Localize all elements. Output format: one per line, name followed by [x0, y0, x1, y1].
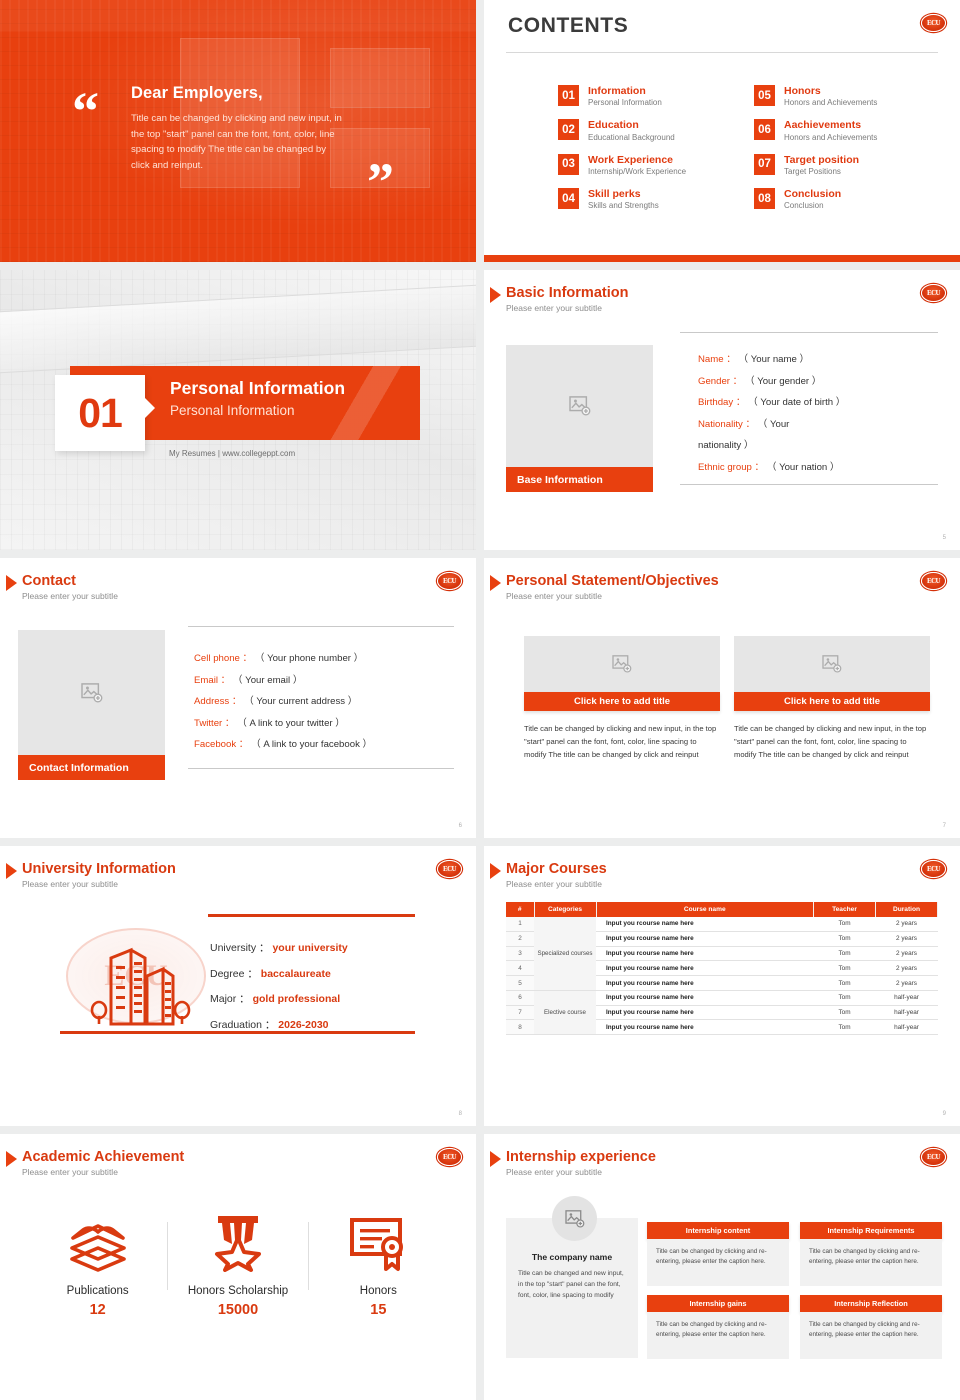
- page-subtitle: Please enter your subtitle: [506, 879, 602, 889]
- courses-table: # Categories Course name Teacher Duratio…: [506, 902, 938, 1035]
- internship-cell-gains[interactable]: Internship gains Title can be changed by…: [647, 1295, 789, 1359]
- building-icon: [85, 936, 193, 1033]
- university-field-key: Major ：: [210, 993, 250, 1005]
- cell-heading: Internship Requirements: [800, 1222, 942, 1239]
- internship-cell-requirements[interactable]: Internship Requirements Title can be cha…: [800, 1222, 942, 1286]
- slide-section-divider: 01 Personal Information Personal Informa…: [0, 270, 476, 550]
- slide-university-information: University Information Please enter your…: [0, 846, 476, 1126]
- cell-body: Title can be changed by clicking and re-…: [800, 1239, 942, 1286]
- info-row-value: （ A link to your facebook ）: [251, 739, 372, 750]
- cell-course: Input you rcourse name here: [596, 1005, 814, 1020]
- info-row-value: （ Your email ）: [233, 675, 303, 686]
- brand-logo-icon: ECU: [921, 860, 946, 878]
- divider-number: 01: [78, 390, 122, 437]
- quote-open-mark: “: [72, 92, 99, 131]
- info-row: Nationality ： （ Your nationality ）: [698, 414, 828, 457]
- cell-duration: half-year: [876, 1020, 938, 1035]
- info-row: Address ： （ Your current address ）: [194, 691, 454, 713]
- contact-info-list: Cell phone ： （ Your phone number ） Email…: [188, 626, 454, 769]
- panel-bottom-rule: [60, 1031, 415, 1034]
- contents-item-sub: Conclusion: [784, 201, 841, 211]
- info-row-value: （ A link to your twitter ）: [237, 718, 345, 729]
- info-row: Ethnic group ： （ Your nation ）: [698, 457, 938, 479]
- slide-major-courses: Major Courses Please enter your subtitle…: [484, 846, 960, 1126]
- info-row-key: Address ：: [194, 696, 241, 707]
- page-title: Major Courses: [506, 861, 607, 877]
- page-number: 5: [943, 535, 946, 541]
- stat-label: Honors: [360, 1285, 397, 1297]
- page-subtitle: Please enter your subtitle: [506, 1167, 602, 1177]
- cell-index: 7: [506, 1005, 534, 1020]
- divider-footer: My Resumes | www.collegeppt.com: [169, 449, 295, 458]
- page-number: 7: [943, 823, 946, 829]
- list-bottom-rule: [188, 768, 454, 769]
- info-row: Cell phone ： （ Your phone number ）: [194, 648, 454, 670]
- brand-logo-icon: ECU: [921, 284, 946, 302]
- cover-title: Dear Employers,: [131, 84, 346, 103]
- cell-duration: 2 years: [876, 961, 938, 976]
- info-row-value: （ Your nation ）: [767, 462, 840, 473]
- internship-company-card[interactable]: The company name Title can be changed an…: [506, 1218, 638, 1358]
- contents-number-badge: 04: [558, 188, 579, 209]
- info-row-key: Email ：: [194, 675, 230, 686]
- col-header-duration: Duration: [876, 902, 938, 917]
- contents-item-01[interactable]: 01 Information Personal Information: [558, 85, 730, 108]
- photo-caption-label: Base Information: [506, 467, 653, 492]
- cell-teacher: Tom: [814, 946, 876, 961]
- image-placeholder-icon[interactable]: [506, 345, 653, 467]
- header-arrow-icon: [490, 863, 501, 879]
- contents-item-08[interactable]: 08 Conclusion Conclusion: [754, 188, 926, 211]
- table-header-row: # Categories Course name Teacher Duratio…: [506, 902, 938, 917]
- page-subtitle: Please enter your subtitle: [506, 303, 602, 313]
- add-title-button[interactable]: Click here to add title: [524, 692, 720, 711]
- divider-subtitle: Personal Information: [170, 403, 295, 418]
- info-row: Email ： （ Your email ）: [194, 670, 454, 692]
- contents-item-heading: Education: [588, 119, 675, 131]
- statement-card-2[interactable]: Click here to add title Title can be cha…: [734, 636, 930, 761]
- university-field-row: Graduation ： 2026-2030: [210, 1013, 348, 1039]
- divider-number-box: 01: [55, 375, 145, 451]
- info-row-key: Name ：: [698, 354, 736, 365]
- slide-basic-information: Basic Information Please enter your subt…: [484, 270, 960, 550]
- contents-item-05[interactable]: 05 Honors Honors and Achievements: [754, 85, 926, 108]
- stat-label: Honors Scholarship: [188, 1285, 288, 1297]
- table-row[interactable]: 6 Elective course Input you rcourse name…: [506, 990, 938, 1005]
- achievement-stat-publications: Publications 12: [28, 1212, 167, 1318]
- info-row-key: Nationality ：: [698, 419, 755, 430]
- slide-contents: CONTENTS ECU 01 Information Personal Inf…: [484, 0, 960, 262]
- cell-duration: 2 years: [876, 976, 938, 991]
- cover-text-block: Dear Employers, Title can be changed by …: [131, 84, 346, 173]
- contents-item-03[interactable]: 03 Work Experience Internship/Work Exper…: [558, 154, 730, 177]
- table-row[interactable]: 1 Specialized courses Input you rcourse …: [506, 917, 938, 931]
- university-field-list: University ： your university Degree ： ba…: [210, 936, 348, 1038]
- info-row-key: Twitter ：: [194, 718, 235, 729]
- internship-cell-grid: Internship content Title can be changed …: [647, 1222, 942, 1359]
- cell-body: Title can be changed by clicking and re-…: [647, 1312, 789, 1359]
- divider-title: Personal Information: [170, 378, 345, 399]
- header-arrow-icon: [490, 287, 501, 303]
- contents-item-04[interactable]: 04 Skill perks Skills and Strengths: [558, 188, 730, 211]
- cell-teacher: Tom: [814, 961, 876, 976]
- cell-index: 5: [506, 976, 534, 991]
- cell-course: Input you rcourse name here: [596, 931, 814, 946]
- contents-item-heading: Aachievements: [784, 119, 877, 131]
- cell-teacher: Tom: [814, 1005, 876, 1020]
- brand-logo-icon: ECU: [437, 572, 462, 590]
- certificate-icon: [348, 1212, 408, 1272]
- info-row-key: Facebook ：: [194, 739, 248, 750]
- cell-duration: half-year: [876, 990, 938, 1005]
- cell-category: Specialized courses: [534, 917, 596, 990]
- page-title: Contact: [22, 573, 76, 589]
- page-title: University Information: [22, 861, 176, 877]
- image-placeholder-icon[interactable]: [734, 636, 930, 692]
- photo-placeholder-card[interactable]: Contact Information: [18, 630, 165, 780]
- stat-label: Publications: [67, 1285, 129, 1297]
- cell-course: Input you rcourse name here: [596, 946, 814, 961]
- page-number: 8: [459, 1111, 462, 1117]
- contents-item-sub: Honors and Achievements: [784, 98, 877, 108]
- page-subtitle: Please enter your subtitle: [22, 1167, 118, 1177]
- contents-item-heading: Skill perks: [588, 188, 659, 200]
- contents-item-sub: Skills and Strengths: [588, 201, 659, 211]
- contents-item-grid: 01 Information Personal Information 05 H…: [558, 85, 926, 212]
- info-row: Twitter ： （ A link to your twitter ）: [194, 713, 454, 735]
- info-row-key: Cell phone ：: [194, 653, 252, 664]
- contents-item-06[interactable]: 06 Aachievements Honors and Achievements: [754, 119, 926, 142]
- list-bottom-rule: [680, 484, 938, 485]
- contents-number-badge: 01: [558, 85, 579, 106]
- page-title: Academic Achievement: [22, 1149, 184, 1165]
- page-subtitle: Please enter your subtitle: [22, 591, 118, 601]
- contents-item-heading: Information: [588, 85, 662, 97]
- image-placeholder-icon[interactable]: [552, 1196, 597, 1241]
- contents-title: CONTENTS: [508, 14, 628, 38]
- cell-teacher: Tom: [814, 976, 876, 991]
- cell-index: 6: [506, 990, 534, 1005]
- col-header-index: #: [506, 902, 534, 917]
- university-field-value: 2026-2030: [278, 1019, 328, 1031]
- page-title: Internship experience: [506, 1149, 656, 1165]
- page-number: 9: [943, 1111, 946, 1117]
- contents-number-badge: 05: [754, 85, 775, 106]
- brand-logo-icon: ECU: [921, 14, 946, 32]
- slide-academic-achievement: Academic Achievement Please enter your s…: [0, 1134, 476, 1400]
- col-header-teacher: Teacher: [814, 902, 876, 917]
- info-row-key: Birthday ：: [698, 397, 745, 408]
- medal-icon: [210, 1212, 266, 1272]
- contents-item-sub: Target Positions: [784, 167, 859, 177]
- brand-logo-icon: ECU: [921, 572, 946, 590]
- contents-number-badge: 07: [754, 154, 775, 175]
- cell-category: Elective course: [534, 990, 596, 1034]
- cell-index: 4: [506, 961, 534, 976]
- cell-course: Input you rcourse name here: [596, 990, 814, 1005]
- university-field-row: University ： your university: [210, 936, 348, 962]
- header-arrow-icon: [490, 1151, 501, 1167]
- statement-card-1[interactable]: Click here to add title Title can be cha…: [524, 636, 720, 761]
- col-header-course: Course name: [596, 902, 814, 917]
- slide-cover: “ Dear Employers, Title can be changed b…: [0, 0, 476, 262]
- cell-index: 8: [506, 1020, 534, 1035]
- photo-caption-label: Contact Information: [18, 755, 165, 780]
- university-field-value: your university: [272, 942, 347, 954]
- contents-item-sub: Personal Information: [588, 98, 662, 108]
- header-arrow-icon: [6, 575, 17, 591]
- info-row-value: （ Your date of birth ）: [748, 397, 845, 408]
- contents-number-badge: 03: [558, 154, 579, 175]
- cell-index: 3: [506, 946, 534, 961]
- info-row: Gender ： （ Your gender ）: [698, 371, 938, 393]
- university-field-key: Graduation ：: [210, 1019, 275, 1031]
- contents-item-sub: Honors and Achievements: [784, 133, 877, 143]
- cell-index: 2: [506, 931, 534, 946]
- slide-internship-experience: Internship experience Please enter your …: [484, 1134, 960, 1400]
- page-title: Basic Information: [506, 285, 628, 301]
- cell-course: Input you rcourse name here: [596, 961, 814, 976]
- achievement-stat-scholarship: Honors Scholarship 15000: [168, 1212, 307, 1318]
- university-field-key: Degree ：: [210, 968, 258, 980]
- image-placeholder-icon[interactable]: [18, 630, 165, 755]
- image-placeholder-icon[interactable]: [524, 636, 720, 692]
- header-arrow-icon: [6, 863, 17, 879]
- contents-number-badge: 08: [754, 188, 775, 209]
- stat-value: 15000: [218, 1302, 258, 1318]
- header-arrow-icon: [490, 575, 501, 591]
- cover-body-text: Title can be changed by clicking and new…: [131, 111, 346, 173]
- cell-teacher: Tom: [814, 990, 876, 1005]
- cell-heading: Internship gains: [647, 1295, 789, 1312]
- info-row: Facebook ： （ A link to your facebook ）: [194, 734, 454, 756]
- quote-close-mark: ”: [367, 163, 394, 202]
- contents-item-sub: Internship/Work Experience: [588, 167, 686, 177]
- achievement-stat-row: Publications 12 Honors Scholarship 15000: [28, 1212, 448, 1318]
- cell-course: Input you rcourse name here: [596, 917, 814, 931]
- basic-info-list: Name ： （ Your name ） Gender ： （ Your gen…: [680, 332, 938, 485]
- university-field-value: baccalaureate: [261, 968, 331, 980]
- cell-body: Title can be changed by clicking and re-…: [647, 1239, 789, 1286]
- contents-number-badge: 06: [754, 119, 775, 140]
- info-row: Birthday ： （ Your date of birth ）: [698, 392, 938, 414]
- brand-logo-icon: ECU: [437, 860, 462, 878]
- achievement-stat-honors: Honors 15: [309, 1212, 448, 1318]
- info-row-value: （ Your phone number ）: [255, 653, 363, 664]
- internship-cell-content[interactable]: Internship content Title can be changed …: [647, 1222, 789, 1286]
- university-panel: ECU: [60, 914, 415, 1034]
- cell-duration: half-year: [876, 1005, 938, 1020]
- divider-arrow-icon: [145, 398, 155, 418]
- add-title-button[interactable]: Click here to add title: [734, 692, 930, 711]
- university-field-row: Degree ： baccalaureate: [210, 962, 348, 988]
- cell-index: 1: [506, 917, 534, 931]
- contents-divider-rule: [506, 52, 938, 53]
- contents-number-badge: 02: [558, 119, 579, 140]
- contents-item-heading: Conclusion: [784, 188, 841, 200]
- contents-footer-bar: [484, 255, 960, 262]
- page-number: 6: [459, 823, 462, 829]
- page-subtitle: Please enter your subtitle: [506, 591, 602, 601]
- slide-contact: Contact Please enter your subtitle ECU C…: [0, 558, 476, 838]
- cell-teacher: Tom: [814, 917, 876, 931]
- cell-duration: 2 years: [876, 917, 938, 931]
- header-arrow-icon: [6, 1151, 17, 1167]
- cell-course: Input you rcourse name here: [596, 1020, 814, 1035]
- contents-item-heading: Target position: [784, 154, 859, 166]
- statement-card-body: Title can be changed by clicking and new…: [524, 722, 720, 761]
- page-subtitle: Please enter your subtitle: [22, 879, 118, 889]
- info-row-value: （ Your gender ）: [745, 376, 821, 387]
- cell-body: Title can be changed by clicking and re-…: [800, 1312, 942, 1359]
- contents-item-02[interactable]: 02 Education Educational Background: [558, 119, 730, 142]
- cell-duration: 2 years: [876, 931, 938, 946]
- cell-teacher: Tom: [814, 1020, 876, 1035]
- panel-top-rule: [208, 914, 415, 917]
- brand-logo-icon: ECU: [921, 1148, 946, 1166]
- contents-item-07[interactable]: 07 Target position Target Positions: [754, 154, 926, 177]
- stat-value: 12: [90, 1302, 106, 1318]
- university-field-key: University ：: [210, 942, 270, 954]
- books-icon: [67, 1212, 129, 1272]
- cell-heading: Internship Reflection: [800, 1295, 942, 1312]
- company-description: Title can be changed and new input, in t…: [518, 1268, 626, 1301]
- university-field-row: Major ： gold professional: [210, 987, 348, 1013]
- cell-teacher: Tom: [814, 931, 876, 946]
- slide-personal-statement: Personal Statement/Objectives Please ent…: [484, 558, 960, 838]
- info-row: Name ： （ Your name ）: [698, 349, 938, 371]
- contents-item-sub: Educational Background: [588, 133, 675, 143]
- university-field-value: gold professional: [253, 993, 341, 1005]
- statement-card-body: Title can be changed by clicking and new…: [734, 722, 930, 761]
- slide-deck: “ Dear Employers, Title can be changed b…: [0, 0, 960, 1400]
- info-row-value: （ Your name ）: [739, 354, 810, 365]
- page-title: Personal Statement/Objectives: [506, 573, 719, 589]
- col-header-category: Categories: [534, 902, 596, 917]
- photo-placeholder-card[interactable]: Base Information: [506, 345, 653, 492]
- internship-cell-reflection[interactable]: Internship Reflection Title can be chang…: [800, 1295, 942, 1359]
- cell-duration: 2 years: [876, 946, 938, 961]
- info-row-key: Ethnic group ：: [698, 462, 764, 473]
- info-row-key: Gender ：: [698, 376, 742, 387]
- cell-heading: Internship content: [647, 1222, 789, 1239]
- brand-logo-icon: ECU: [437, 1148, 462, 1166]
- contents-item-heading: Work Experience: [588, 154, 686, 166]
- contents-item-heading: Honors: [784, 85, 877, 97]
- stat-value: 15: [370, 1302, 386, 1318]
- cell-course: Input you rcourse name here: [596, 976, 814, 991]
- company-name-label: The company name: [518, 1252, 626, 1262]
- info-row-value: （ Your current address ）: [244, 696, 357, 707]
